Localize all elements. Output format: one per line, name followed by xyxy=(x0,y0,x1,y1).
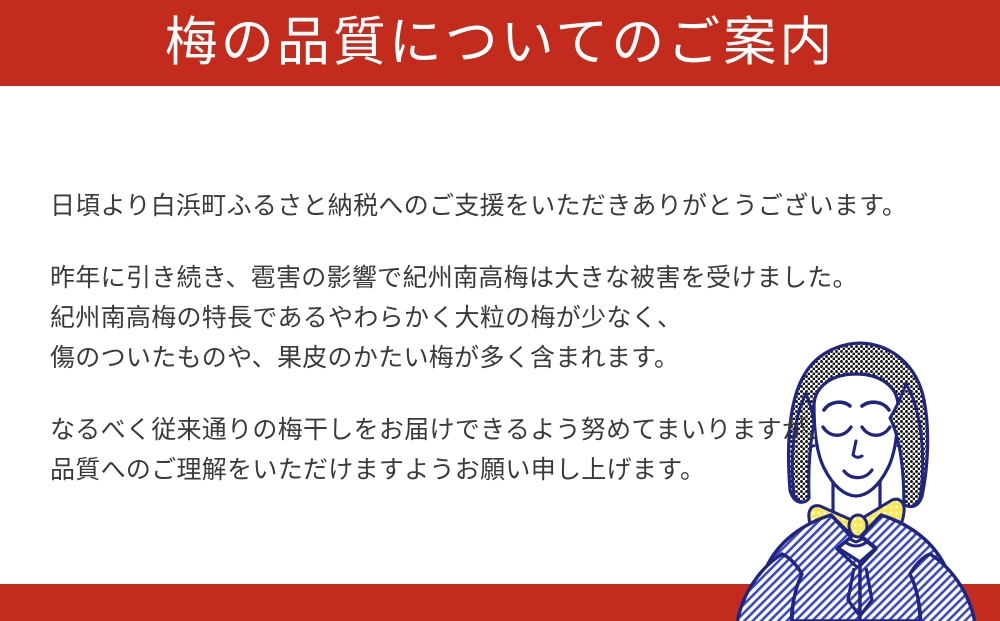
bowtie xyxy=(809,499,904,540)
notice-page: 梅の品質についてのご案内 日頃より白浜町ふるさと納税へのご支援をいただきありがと… xyxy=(0,0,1000,621)
paragraph-line: 品質へのご理解をいただけますようお願い申し上げます。 xyxy=(50,456,705,484)
paragraph-greeting: 日頃より白浜町ふるさと納税へのご支援をいただきありがとうございます。 xyxy=(50,186,880,226)
footer-band xyxy=(0,584,1000,621)
paragraph-line: なるべく従来通りの梅干しをお届けできるよう努めてまいりますが、 xyxy=(50,416,832,444)
page-title: 梅の品質についてのご案内 xyxy=(165,16,835,69)
paragraph-line: 紀州南高梅の特長であるやわらかく大粒の梅が少なく、 xyxy=(50,304,682,332)
paragraph-line: 傷のついたものや、果皮のかたい梅が多く含まれます。 xyxy=(50,344,679,372)
header-band: 梅の品質についてのご案内 xyxy=(0,0,1000,86)
body-copy: 日頃より白浜町ふるさと納税へのご支援をいただきありがとうございます。 昨年に引き… xyxy=(50,186,880,490)
collar-line xyxy=(833,524,879,546)
paragraph-request: なるべく従来通りの梅干しをお届けできるよう努めてまいりますが、 品質へのご理解を… xyxy=(50,410,880,490)
paragraph-line: 日頃より白浜町ふるさと納税へのご支援をいただきありがとうございます。 xyxy=(50,192,907,220)
lapel-right xyxy=(858,515,881,568)
lapel-left xyxy=(831,515,858,568)
paragraph-damage-notice: 昨年に引き続き、雹害の影響で紀州南高梅は大きな被害を受けました。 紀州南高梅の特… xyxy=(50,258,880,378)
paragraph-spacer xyxy=(50,226,880,258)
paragraph-spacer xyxy=(50,378,880,410)
paragraph-line: 昨年に引き続き、雹害の影響で紀州南高梅は大きな被害を受けました。 xyxy=(50,264,858,292)
